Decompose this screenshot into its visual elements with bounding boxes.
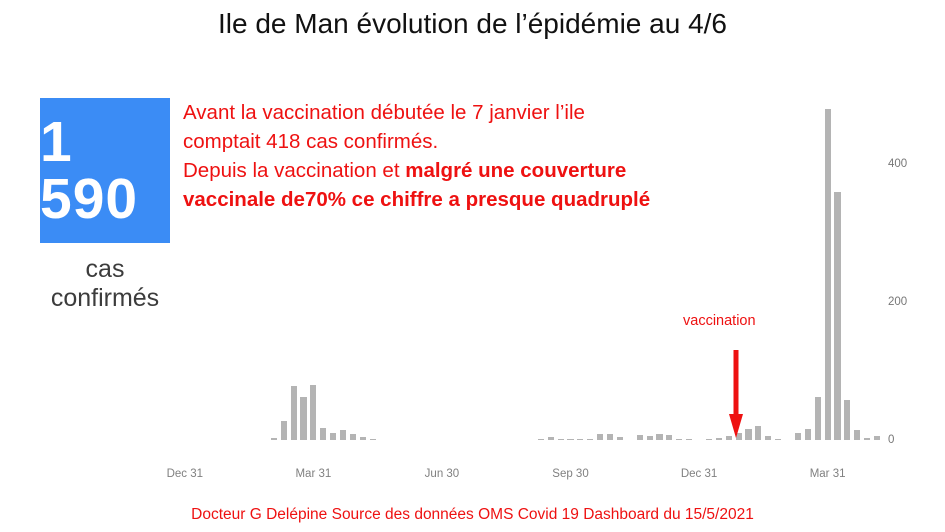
chart-y-tick-label: 400 [888,158,907,170]
chart-x-axis: Dec 31Mar 31Jun 30Sep 30Dec 31Mar 31 [0,468,945,494]
source-footer: Docteur G Delépine Source des données OM… [0,506,945,524]
badge-box: 1 590 [40,98,170,243]
chart-x-tick-label: Mar 31 [810,468,846,480]
chart-y-tick-label: 0 [888,434,894,446]
epidemic-bar-chart: 0200400 [170,95,930,455]
chart-x-tick-label: Dec 31 [167,468,203,480]
vaccination-label: vaccination [683,313,756,329]
chart-x-tick-label: Dec 31 [681,468,717,480]
page-title: Ile de Man évolution de l’épidémie au 4/… [0,8,945,40]
vaccination-arrow-icon [729,350,743,438]
slide-root: Ile de Man évolution de l’épidémie au 4/… [0,0,945,532]
chart-y-tick-label: 200 [888,296,907,308]
badge-caption: cas confirmés [40,255,170,313]
chart-y-axis: 0200400 [170,95,930,455]
chart-x-tick-label: Jun 30 [425,468,460,480]
chart-x-tick-label: Sep 30 [552,468,588,480]
badge-number: 1 590 [40,114,170,228]
confirmed-cases-badge: 1 590 cas confirmés [40,98,190,313]
chart-x-tick-label: Mar 31 [295,468,331,480]
